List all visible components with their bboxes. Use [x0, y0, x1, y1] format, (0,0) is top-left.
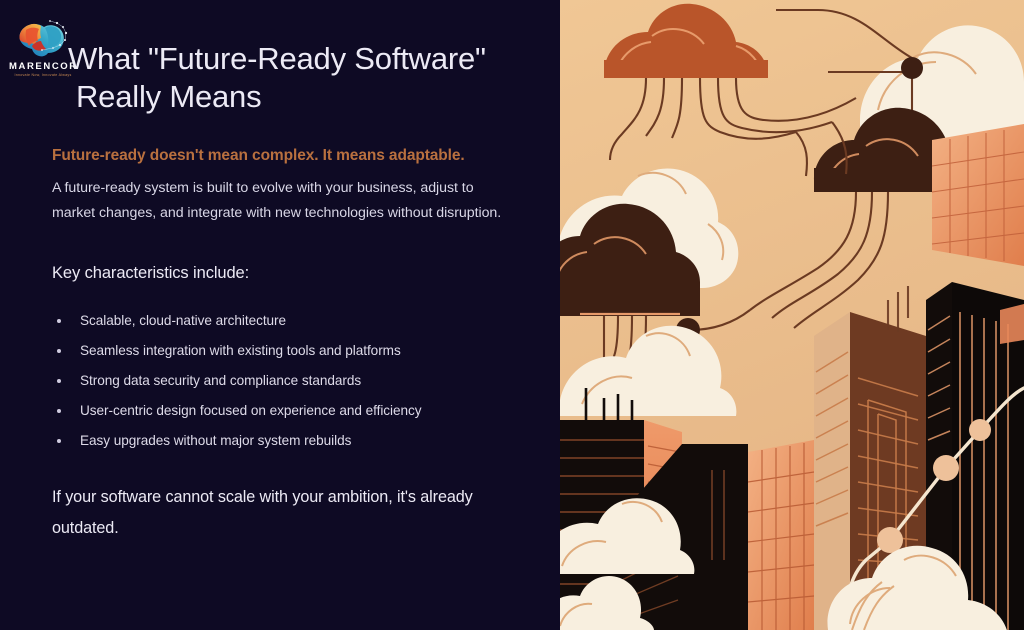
- body-paragraph: A future-ready system is built to evolve…: [52, 176, 512, 226]
- list-item: Scalable, cloud-native architecture: [52, 306, 522, 336]
- list-item: Seamless integration with existing tools…: [52, 336, 522, 366]
- list-item-label: Easy upgrades without major system rebui…: [80, 433, 351, 448]
- brand-tagline: Innovate Now, Innovate Always: [9, 72, 77, 78]
- list-item-label: Seamless integration with existing tools…: [80, 343, 401, 358]
- brand-logo[interactable]: MARENCOR Innovate Now, Innovate Always: [9, 16, 77, 78]
- key-characteristics-list: Scalable, cloud-native architecture Seam…: [52, 306, 522, 456]
- content-column: Future-ready doesn't mean complex. It me…: [52, 143, 522, 544]
- bullet-dot-icon: [57, 349, 61, 353]
- page-title: What "Future-Ready Software" Really Mean…: [68, 40, 538, 116]
- subheading: Future-ready doesn't mean complex. It me…: [52, 143, 502, 169]
- key-characteristics-title: Key characteristics include:: [52, 262, 522, 284]
- list-item: Easy upgrades without major system rebui…: [52, 426, 522, 456]
- brand-name: MARENCOR: [9, 61, 77, 72]
- list-item: Strong data security and compliance stan…: [52, 366, 522, 396]
- bullet-dot-icon: [57, 409, 61, 413]
- list-item-label: Strong data security and compliance stan…: [80, 373, 361, 388]
- bullet-dot-icon: [57, 379, 61, 383]
- list-item-label: User-centric design focused on experienc…: [80, 403, 422, 418]
- page-title-line-1: What "Future-Ready Software": [68, 41, 486, 76]
- list-item-label: Scalable, cloud-native architecture: [80, 313, 286, 328]
- list-item: User-centric design focused on experienc…: [52, 396, 522, 426]
- cloud-computing-city-illustration: [560, 0, 1024, 630]
- brain-logo-icon: [12, 16, 74, 60]
- page-title-line-2: Really Means: [68, 78, 538, 116]
- slide-root: MARENCOR Innovate Now, Innovate Always W…: [0, 0, 1024, 630]
- bullet-dot-icon: [57, 439, 61, 443]
- left-content-panel: MARENCOR Innovate Now, Innovate Always W…: [0, 0, 560, 630]
- closing-statement: If your software cannot scale with your …: [52, 482, 502, 544]
- bullet-dot-icon: [57, 319, 61, 323]
